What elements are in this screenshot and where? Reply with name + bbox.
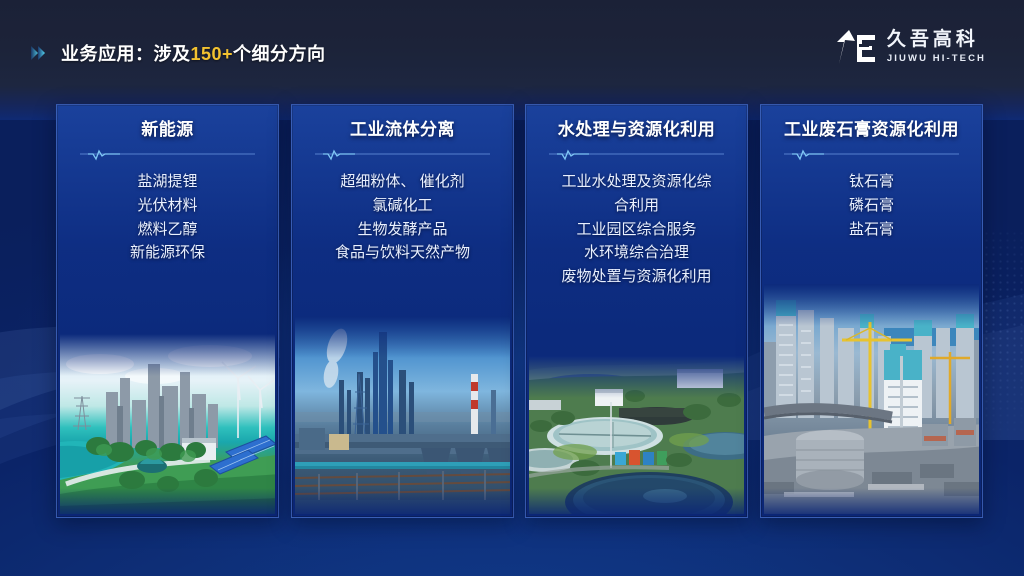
card-title: 工业流体分离 xyxy=(292,119,513,140)
photo-bottom-fade xyxy=(529,488,744,514)
list-item: 废物处置与资源化利用 xyxy=(536,265,737,289)
brand-logo: 久吾高科 JIUWU HI-TECH xyxy=(835,28,986,66)
industrial-fluid-plant-photo xyxy=(295,316,510,514)
card-item-list: 超细粉体、 催化剂 氯碱化工 生物发酵产品 食品与饮料天然产物 xyxy=(292,170,513,265)
page-title-prefix: 业务应用：涉及 xyxy=(61,44,191,64)
list-item: 氯碱化工 xyxy=(302,194,503,218)
card-divider xyxy=(549,149,724,161)
photo-top-fade xyxy=(295,316,510,358)
page-title-suffix: 个细分方向 xyxy=(233,44,326,64)
slide-stage: 业务应用：涉及150+个细分方向 久吾高科 JIUWU HI-TECH 新能源 xyxy=(0,0,1024,576)
photo-top-fade xyxy=(529,356,744,398)
brand-name-cn: 久吾高科 xyxy=(887,30,986,49)
card-head: 工业废石膏资源化利用 xyxy=(761,105,982,161)
business-card-gypsum[interactable]: 工业废石膏资源化利用 钛石膏 磷石膏 盐石膏 xyxy=(760,104,983,518)
page-title-highlight: 150+ xyxy=(191,44,234,64)
photo-top-fade xyxy=(764,284,979,326)
card-divider xyxy=(315,149,490,161)
list-item: 盐湖提锂 xyxy=(67,170,268,194)
card-divider xyxy=(784,149,959,161)
list-item: 钛石膏 xyxy=(771,170,972,194)
list-item: 水环境综合治理 xyxy=(536,241,737,265)
card-title: 新能源 xyxy=(57,119,278,140)
construction-city-photo xyxy=(764,284,979,514)
list-item: 工业水处理及资源化综 合利用 xyxy=(536,170,737,217)
card-item-list: 盐湖提锂 光伏材料 燃料乙醇 新能源环保 xyxy=(57,170,278,265)
page-title: 业务应用：涉及150+个细分方向 xyxy=(30,40,326,66)
page-title-text: 业务应用：涉及150+个细分方向 xyxy=(61,40,326,66)
card-item-list: 工业水处理及资源化综 合利用 工业园区综合服务 水环境综合治理 废物处置与资源化… xyxy=(526,170,747,288)
card-head: 工业流体分离 xyxy=(292,105,513,161)
list-item: 燃料乙醇 xyxy=(67,218,268,242)
list-item: 磷石膏 xyxy=(771,194,972,218)
list-item: 盐石膏 xyxy=(771,218,972,242)
list-item: 光伏材料 xyxy=(67,194,268,218)
list-item: 新能源环保 xyxy=(67,241,268,265)
business-card-water-treatment[interactable]: 水处理与资源化利用 工业水处理及资源化综 合利用 工业园区综合服务 水环境综合治… xyxy=(525,104,748,518)
chevron-right-icon xyxy=(30,43,52,63)
card-divider xyxy=(80,149,255,161)
business-card-new-energy[interactable]: 新能源 盐湖提锂 光伏材料 燃料乙醇 新能源环保 xyxy=(56,104,279,518)
photo-bottom-fade xyxy=(60,488,275,514)
card-title: 水处理与资源化利用 xyxy=(526,119,747,140)
business-cards: 新能源 盐湖提锂 光伏材料 燃料乙醇 新能源环保 xyxy=(0,104,1024,516)
slide-header: 业务应用：涉及150+个细分方向 久吾高科 JIUWU HI-TECH xyxy=(0,0,1024,86)
card-head: 新能源 xyxy=(57,105,278,161)
list-item: 工业园区综合服务 xyxy=(536,218,737,242)
photo-bottom-fade xyxy=(295,488,510,514)
business-card-fluid-separation[interactable]: 工业流体分离 超细粉体、 催化剂 氯碱化工 生物发酵产品 食品与饮料天然产物 xyxy=(291,104,514,518)
list-item: 生物发酵产品 xyxy=(302,218,503,242)
photo-bottom-fade xyxy=(764,488,979,514)
brand-name-en: JIUWU HI-TECH xyxy=(887,54,986,64)
card-head: 水处理与资源化利用 xyxy=(526,105,747,161)
jiuwu-brand-mark-icon xyxy=(835,28,877,66)
list-item: 超细粉体、 催化剂 xyxy=(302,170,503,194)
list-item: 食品与饮料天然产物 xyxy=(302,241,503,265)
card-item-list: 钛石膏 磷石膏 盐石膏 xyxy=(761,170,982,241)
photo-top-fade xyxy=(60,334,275,376)
new-energy-city-photo xyxy=(60,334,275,514)
water-treatment-plant-photo xyxy=(529,356,744,514)
brand-logo-text: 久吾高科 JIUWU HI-TECH xyxy=(887,30,986,64)
card-title: 工业废石膏资源化利用 xyxy=(761,119,982,140)
